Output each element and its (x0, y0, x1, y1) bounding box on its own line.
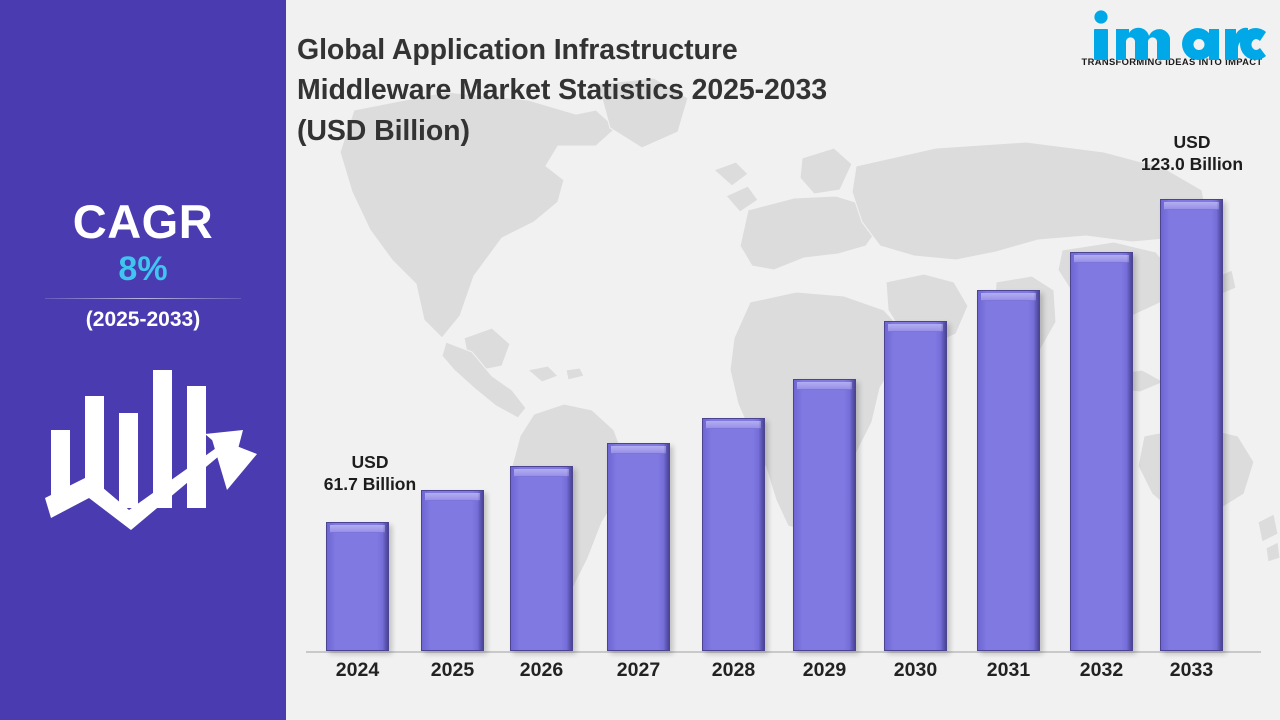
x-axis-label-2031: 2031 (963, 659, 1055, 682)
x-axis-label-2027: 2027 (593, 659, 685, 682)
bar-2026 (510, 466, 573, 651)
cagr-period: (2025-2033) (0, 308, 286, 332)
bar-2029 (793, 379, 856, 651)
bar-2027 (607, 443, 670, 651)
infographic-page: CAGR 8% (2025-2033) (0, 0, 1280, 720)
growth-bar-chart-arrow-icon (43, 358, 259, 534)
bar-chart: USD 61.7 Billion USD 123.0 Billion 20242… (286, 0, 1280, 720)
cagr-value: 8% (0, 248, 286, 291)
bar-2030 (884, 321, 947, 651)
x-axis-label-2024: 2024 (312, 659, 404, 682)
bar-2031 (977, 290, 1040, 651)
bar-2028 (702, 418, 765, 651)
x-axis-label-2026: 2026 (496, 659, 588, 682)
x-axis-label-2032: 2032 (1056, 659, 1148, 682)
chart-baseline (306, 651, 1261, 653)
x-axis-label-2025: 2025 (407, 659, 499, 682)
bar-2033 (1160, 199, 1223, 651)
x-axis-label-2028: 2028 (688, 659, 780, 682)
x-axis-label-2029: 2029 (779, 659, 871, 682)
last-value-label: USD 123.0 Billion (1104, 131, 1280, 176)
bar-2025 (421, 490, 484, 651)
bar-2032 (1070, 252, 1133, 651)
x-axis-label-2030: 2030 (870, 659, 962, 682)
cagr-title: CAGR (0, 198, 286, 246)
bar-2024 (326, 522, 389, 651)
x-axis-label-2033: 2033 (1146, 659, 1238, 682)
chart-panel: Global Application Infrastructure Middle… (286, 0, 1280, 720)
cagr-divider (45, 298, 241, 299)
cagr-block: CAGR 8% (2025-2033) (0, 198, 286, 332)
cagr-sidebar: CAGR 8% (2025-2033) (0, 0, 286, 720)
